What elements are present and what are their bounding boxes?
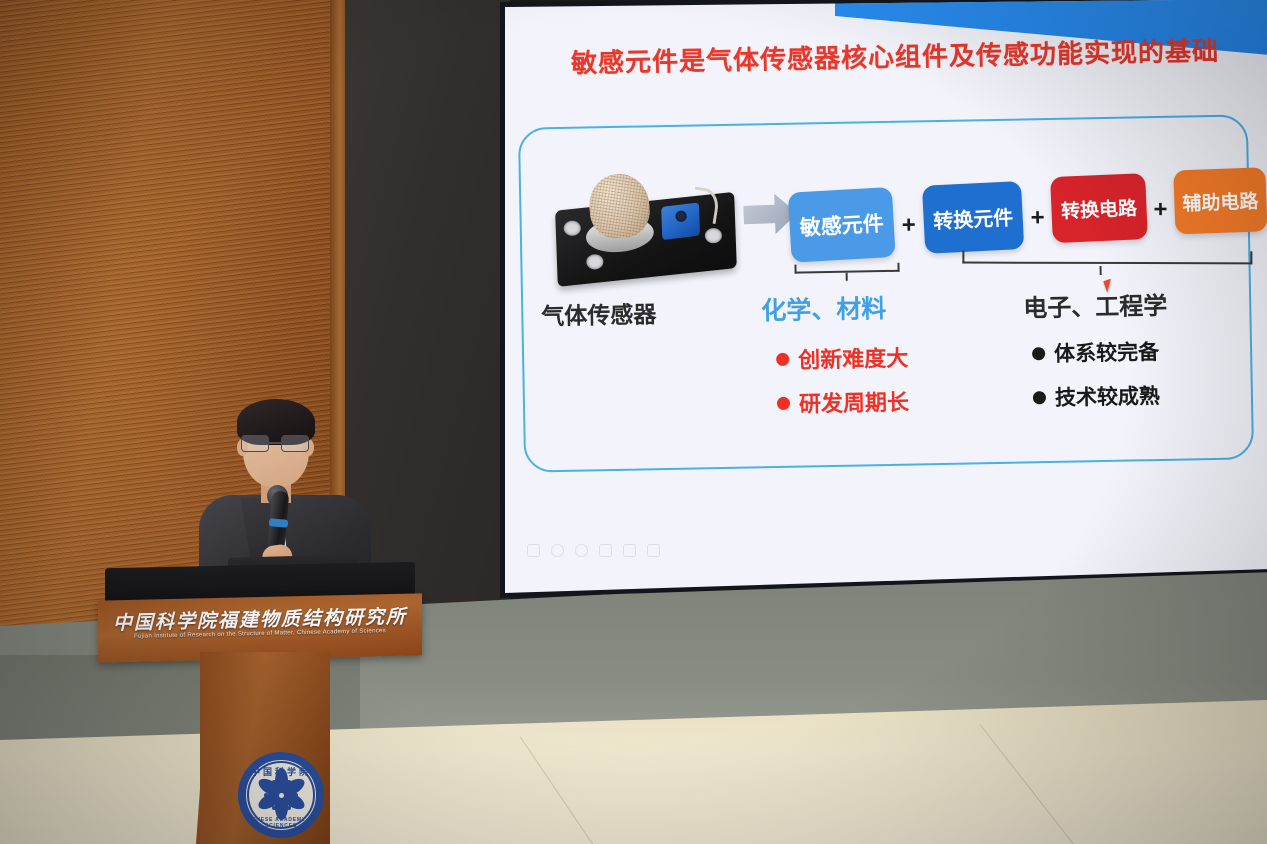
- plus-operator-3: +: [1153, 196, 1168, 224]
- lecture-hall-scene: 敏感元件是气体传感器核心组件及传感功能实现的基础: [0, 0, 1267, 844]
- gas-sensor-photo: [549, 165, 751, 284]
- bullet-dot-icon: [1033, 391, 1046, 404]
- menu-icon[interactable]: [647, 544, 660, 557]
- pen-icon[interactable]: [527, 544, 540, 557]
- glasses-icon: [241, 435, 311, 452]
- bullet-item: 创新难度大: [776, 341, 909, 375]
- screen-surface: 敏感元件是气体传感器核心组件及传感功能实现的基础: [505, 0, 1267, 599]
- microphone-ring: [269, 518, 289, 528]
- bullet-item: 技术较成熟: [1033, 380, 1161, 412]
- highlighter-icon[interactable]: [575, 544, 588, 557]
- slide-title: 敏感元件是气体传感器核心组件及传感功能实现的基础: [565, 31, 1226, 81]
- bracket-electronics: [962, 251, 1252, 265]
- component-box-3-label: 转换电路: [1060, 193, 1137, 223]
- projection-screen: 敏感元件是气体传感器核心组件及传感功能实现的基础: [500, 0, 1267, 614]
- slides-icon[interactable]: [623, 544, 636, 557]
- bullet-dot-icon: [1032, 347, 1045, 360]
- bullet-label: 体系较完备: [1054, 336, 1160, 368]
- bullet-dot-icon: [776, 352, 789, 365]
- plus-operator-1: +: [902, 211, 917, 239]
- component-box-4-label: 辅助电路: [1182, 186, 1259, 216]
- plus-operator-2: +: [1030, 204, 1045, 232]
- presentation-slide: 敏感元件是气体传感器核心组件及传感功能实现的基础: [505, 0, 1267, 599]
- presentation-toolbar[interactable]: [527, 544, 660, 557]
- sensor-caption: 气体传感器: [541, 295, 657, 331]
- sensor-wire: [690, 186, 721, 224]
- bullet-label: 研发周期长: [799, 385, 910, 419]
- component-box-2-label: 转换元件: [932, 201, 1013, 234]
- sensor-mesh-dome: [587, 171, 652, 240]
- cas-emblem: 中国科学院 CHINESE ACADEMY OF SCIENCES: [238, 752, 324, 838]
- component-box-1[interactable]: 敏感元件: [788, 187, 896, 263]
- group-label-electronics: 电子、工程学: [1023, 286, 1168, 324]
- bracket-stem: [1100, 266, 1102, 275]
- component-box-1-label: 敏感元件: [799, 207, 885, 242]
- content-frame: 敏感元件 + 转换元件 + 转换电路 + 辅助电路: [518, 114, 1254, 472]
- bullet-item: 体系较完备: [1032, 336, 1160, 368]
- component-box-4[interactable]: 辅助电路: [1173, 167, 1267, 234]
- group-label-chemistry: 化学、材料: [761, 289, 887, 327]
- bracket-stem: [846, 273, 848, 281]
- bullet-label: 技术较成熟: [1055, 380, 1161, 412]
- bullet-label: 创新难度大: [798, 341, 909, 375]
- cas-dot: [272, 780, 276, 784]
- bullet-dot-icon: [777, 396, 790, 409]
- pointer-icon[interactable]: [599, 544, 612, 557]
- laser-pointer-icon[interactable]: [551, 544, 564, 557]
- component-box-2[interactable]: 转换元件: [922, 181, 1024, 254]
- bullet-item: 研发周期长: [777, 385, 910, 419]
- component-box-3[interactable]: 转换电路: [1050, 173, 1148, 243]
